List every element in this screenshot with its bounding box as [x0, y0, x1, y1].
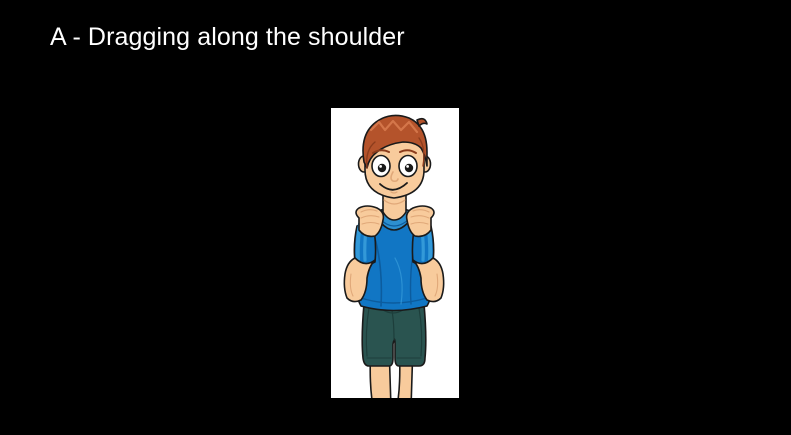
page-title: A - Dragging along the shoulder: [50, 21, 405, 53]
figure-image: [331, 108, 459, 398]
cartoon-boy-illustration: [331, 108, 459, 398]
slide-canvas: A - Dragging along the shoulder: [0, 0, 791, 435]
